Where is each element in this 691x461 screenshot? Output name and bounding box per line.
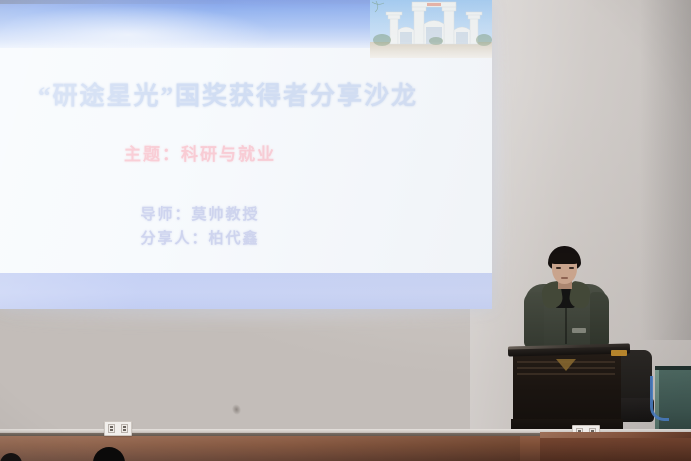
lecture-hall-photo: “研途星光”国奖获得者分享沙龙 主题：科研与就业 导师：莫帅教授 分享人：柏代鑫… — [0, 0, 691, 461]
wooden-lectern — [510, 345, 627, 438]
lectern-emblem — [556, 359, 576, 371]
campus-gate-archway-photo — [370, 0, 492, 58]
presenter-hoodie-zipper — [565, 294, 567, 344]
projected-slide: “研途星光”国奖获得者分享沙龙 主题：科研与就业 导师：莫帅教授 分享人：柏代鑫… — [0, 0, 492, 309]
photo-projection-washout — [370, 0, 492, 58]
blue-network-cable — [650, 376, 669, 421]
outlet-socket — [108, 424, 115, 433]
wall-right-shadow — [640, 0, 691, 340]
wood-wainscot-sheen — [0, 436, 520, 461]
outlet-socket — [121, 424, 128, 433]
desk-top-highlight — [540, 432, 691, 438]
presenter-right-eye — [569, 267, 574, 269]
lectern-gold-badge — [611, 350, 627, 356]
presenter-mouth — [561, 277, 568, 279]
lectern-groove — [517, 373, 615, 375]
presenter-right-arm — [590, 292, 609, 348]
presenter-hair-fringe — [549, 253, 580, 264]
presenter-left-arm — [524, 292, 544, 348]
wall-power-outlet-left — [104, 421, 132, 436]
slide-title: “研途星光”国奖获得者分享沙龙 — [38, 76, 458, 112]
slide-advisor-line: 导师：莫帅教授 — [0, 203, 400, 224]
presenter-left-eye — [556, 267, 561, 269]
slide-subtitle-topic: 主题：科研与就业 — [0, 140, 400, 165]
slide-presenter-line: 分享人：柏代鑫 — [0, 227, 400, 248]
slide-bottom-blue-band — [0, 273, 492, 309]
presenter-hoodie-logo — [572, 328, 586, 333]
